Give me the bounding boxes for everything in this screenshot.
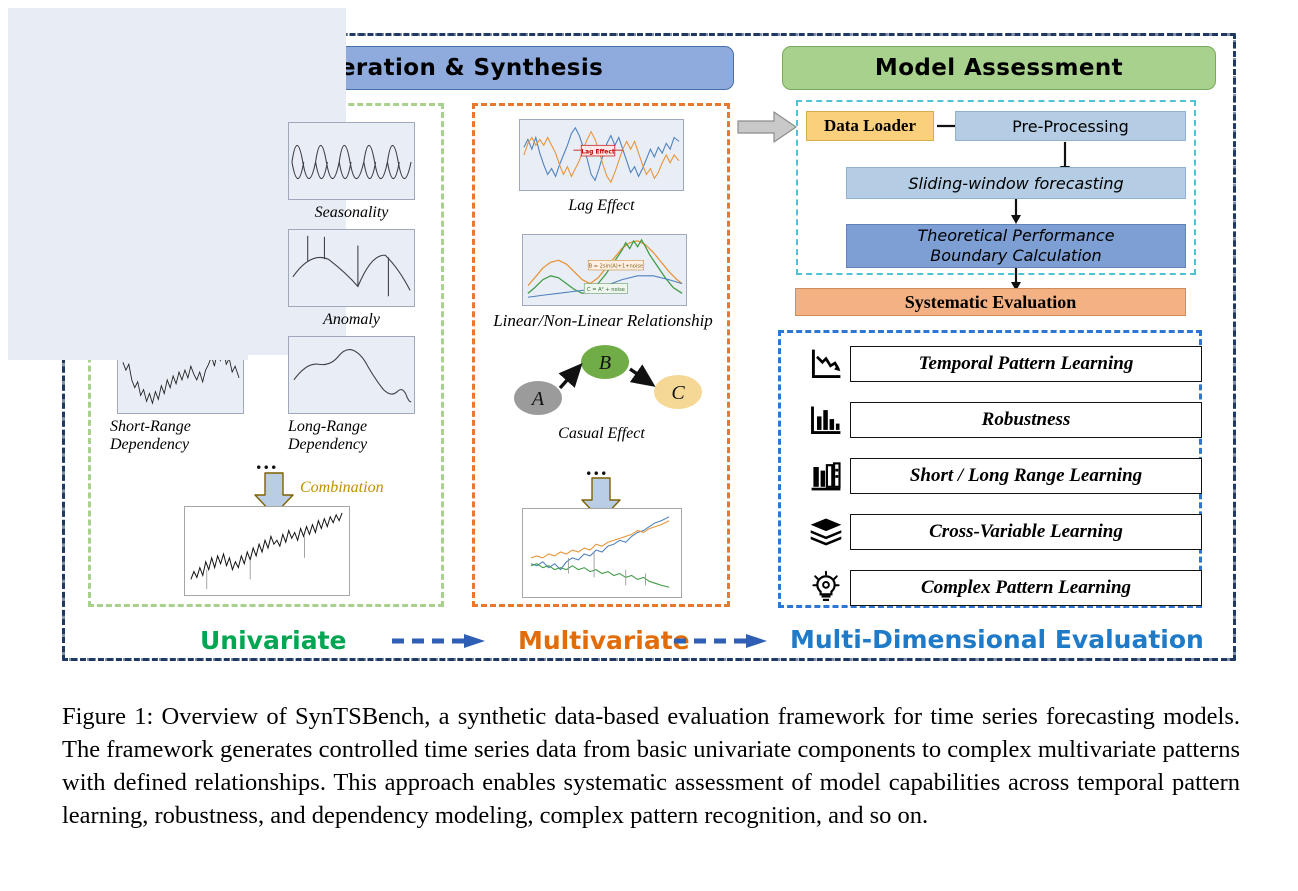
figure-overview: Data Generation & Synthesis Model Assess… — [0, 0, 1298, 891]
seasonality-caption: Seasonality — [288, 204, 415, 222]
theoretical-boundary-box[interactable]: Theoretical Performance Boundary Calcula… — [846, 224, 1186, 268]
bottom-label-multi-dimensional-evaluation: Multi-Dimensional Evaluation — [790, 625, 1204, 654]
causal-graph: A B C — [498, 340, 710, 420]
bar-chart-icon — [806, 400, 846, 440]
panel-connector-arrow-icon — [736, 110, 798, 144]
short-range-caption: Short-RangeDependency — [110, 418, 250, 454]
lightbulb-idea-icon — [806, 568, 846, 608]
line-chart-down-icon — [806, 344, 846, 384]
arrow-univariate-to-multivariate-icon — [390, 632, 488, 650]
combination-label: Combination — [300, 479, 384, 497]
bottom-label-multivariate: Multivariate — [518, 626, 690, 655]
boundary-line-2: Boundary Calculation — [930, 246, 1101, 266]
linear-nonlinear-plot: B = 2sin(A)+1+noise C = A² + noise — [522, 234, 687, 306]
eval-row-temporal-pattern[interactable]: Temporal Pattern Learning — [806, 344, 1202, 384]
anomaly-plot — [288, 229, 415, 307]
svg-text:Lag Effect: Lag Effect — [581, 150, 614, 156]
causal-effect-caption: Casual Effect — [519, 425, 684, 443]
anomaly-caption: Anomaly — [288, 311, 415, 329]
arrow-multivariate-to-evaluation-icon — [672, 632, 770, 650]
combined-multivariate-plot — [522, 508, 682, 598]
combined-univariate-plot — [184, 506, 350, 596]
eval-label-cross-variable: Cross-Variable Learning — [850, 514, 1202, 550]
long-range-plot — [288, 336, 415, 414]
lag-effect-caption: Lag Effect — [519, 197, 684, 215]
svg-text:C: C — [671, 382, 685, 404]
systematic-evaluation-box[interactable]: Systematic Evaluation — [795, 288, 1186, 316]
boundary-line-1: Theoretical Performance — [917, 226, 1114, 246]
lag-effect-plot: Lag Effect — [519, 119, 684, 191]
bottom-label-univariate: Univariate — [200, 626, 347, 655]
eval-label-temporal-pattern: Temporal Pattern Learning — [850, 346, 1202, 382]
svg-text:B: B — [599, 352, 611, 374]
eval-label-short-long-range: Short / Long Range Learning — [850, 458, 1202, 494]
header-model-assessment: Model Assessment — [782, 46, 1216, 90]
sliding-window-box[interactable]: Sliding-window forecasting — [846, 167, 1186, 199]
eval-row-robustness[interactable]: Robustness — [806, 400, 1202, 440]
eval-row-complex-pattern[interactable]: Complex Pattern Learning — [806, 568, 1202, 608]
eval-label-robustness: Robustness — [850, 402, 1202, 438]
stacked-books-icon — [806, 512, 846, 552]
books-shelf-icon — [806, 456, 846, 496]
arrow-sliding-to-boundary-icon — [1009, 199, 1023, 225]
multivariate-panel-background — [8, 8, 248, 360]
data-loader-box[interactable]: Data Loader — [806, 111, 934, 141]
long-range-caption: Long-RangeDependency — [288, 418, 428, 454]
eval-label-complex-pattern: Complex Pattern Learning — [850, 570, 1202, 606]
eval-row-short-long-range[interactable]: Short / Long Range Learning — [806, 456, 1202, 496]
linear-nonlinear-caption: Linear/Non-Linear Relationship — [478, 312, 728, 330]
svg-text:B = 2sin(A)+1+noise: B = 2sin(A)+1+noise — [589, 264, 644, 270]
eval-row-cross-variable[interactable]: Cross-Variable Learning — [806, 512, 1202, 552]
svg-text:A: A — [530, 388, 545, 410]
svg-text:C = A² + noise: C = A² + noise — [587, 287, 625, 293]
figure-caption: Figure 1: Overview of SynTSBench, a synt… — [62, 700, 1240, 832]
pre-processing-box[interactable]: Pre-Processing — [955, 111, 1186, 141]
seasonality-plot — [288, 122, 415, 200]
